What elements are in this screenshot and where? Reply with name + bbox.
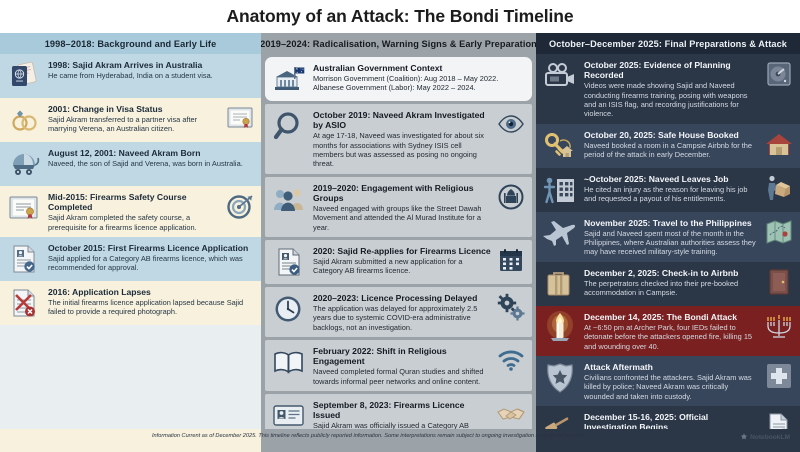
- timeline-item-text: October 20, 2025: Safe House Booked Nave…: [584, 129, 759, 160]
- open-book-icon: [270, 345, 308, 379]
- timeline-item-body: Sajid Akram transferred to a partner vis…: [48, 115, 220, 134]
- column-final-preparations-attack: October–December 2025: Final Preparation…: [536, 33, 800, 429]
- timeline-item-title: October 2019: Naveed Akram Investigated …: [313, 110, 491, 130]
- timeline-item[interactable]: August 12, 2001: Naveed Akram Born Navee…: [0, 142, 261, 186]
- timeline-item-title: February 2022: Shift in Religious Engage…: [313, 346, 491, 366]
- brand-label: NotebookLM: [750, 434, 790, 441]
- title-bar: Anatomy of an Attack: The Bondi Timeline: [0, 0, 800, 33]
- timeline-item[interactable]: February 2022: Shift in Religious Engage…: [265, 340, 532, 391]
- timeline-item[interactable]: November 2025: Travel to the Philippines…: [536, 212, 800, 262]
- timeline-item-title: 2019–2020: Engagement with Religious Gro…: [313, 183, 491, 203]
- baby-pram-icon: [5, 147, 43, 181]
- timeline-item[interactable]: 2001: Change in Visa Status Sajid Akram …: [0, 98, 261, 142]
- timeline-item-title: October 2025: Evidence of Planning Recor…: [584, 60, 759, 80]
- timeline-item-title: December 15-16, 2025: Official Investiga…: [584, 412, 759, 429]
- box-carry-icon: [764, 173, 794, 203]
- timeline-item-title: 2020: Sajid Re-applies for Firearms Lice…: [313, 246, 491, 256]
- timeline-item[interactable]: September 8, 2023: Firearms Licence Issu…: [265, 394, 532, 429]
- target-icon: [225, 191, 255, 221]
- legal-document-icon: [764, 411, 794, 429]
- timeline-item-body: Sajid and Naveed spent most of the month…: [584, 229, 759, 257]
- timeline-item-body: Naveed booked a room in a Campsie Airbnb…: [584, 141, 759, 160]
- door-icon: [764, 267, 794, 297]
- timeline-item-text: Australian Government Context Morrison G…: [313, 62, 526, 93]
- group-people-icon: [270, 182, 308, 216]
- timeline-item[interactable]: 2016: Application Lapses The initial fir…: [0, 281, 261, 325]
- timeline-item-text: 2019–2020: Engagement with Religious Gro…: [313, 182, 491, 232]
- id-document-check-icon: [270, 245, 308, 279]
- certificate-icon: [5, 191, 43, 225]
- menorah-icon: [764, 311, 794, 341]
- calendar-icon: [496, 245, 526, 275]
- timeline-item-title: 2001: Change in Visa Status: [48, 104, 220, 114]
- timeline-item[interactable]: Mid-2015: Firearms Safety Course Complet…: [0, 186, 261, 237]
- footer-background-left: [0, 429, 261, 452]
- footer-background-right: [536, 429, 800, 452]
- government-context-card[interactable]: Australian Government Context Morrison G…: [265, 57, 532, 101]
- column-1-items: 1998: Sajid Akram Arrives in Australia H…: [0, 54, 261, 325]
- clock-icon: [270, 292, 308, 326]
- timeline-item-body: The application was delayed for approxim…: [313, 304, 491, 332]
- document-rejected-icon: [5, 286, 43, 320]
- id-card-icon: [270, 399, 308, 429]
- timeline-item-text: 2020: Sajid Re-applies for Firearms Lice…: [313, 245, 491, 276]
- timeline-item-text: October 2019: Naveed Akram Investigated …: [313, 109, 491, 169]
- footnote-text: Information Current as of December 2025.…: [152, 433, 672, 440]
- timeline-item-title: 2016: Application Lapses: [48, 287, 255, 297]
- house-icon: [764, 129, 794, 159]
- timeline-item-title: November 2025: Travel to the Philippines: [584, 218, 759, 228]
- mosque-icon: [496, 182, 526, 212]
- timeline-item-body: He cited an injury as the reason for lea…: [584, 185, 759, 204]
- timeline-item-title: ~October 2025: Naveed Leaves Job: [584, 174, 759, 184]
- suitcase-icon: [541, 267, 579, 301]
- timeline-item-title: December 14, 2025: The Bondi Attack: [584, 312, 759, 322]
- timeline-item-body: Sajid Akram completed the safety course,…: [48, 213, 220, 232]
- column-3-header: October–December 2025: Final Preparation…: [536, 33, 800, 54]
- timeline-item-text: October 2025: Evidence of Planning Recor…: [584, 59, 759, 119]
- timeline-item-text: ~October 2025: Naveed Leaves Job He cite…: [584, 173, 759, 204]
- timeline-item[interactable]: October 2019: Naveed Akram Investigated …: [265, 104, 532, 174]
- column-radicalisation: 2019–2024: Radicalisation, Warning Signs…: [261, 33, 536, 429]
- timeline-item-body: Videos were made showing Sajid and Navee…: [584, 81, 759, 118]
- infographic-root: Anatomy of an Attack: The Bondi Timeline…: [0, 0, 800, 452]
- gears-icon: [496, 292, 526, 322]
- timeline-item-text: September 8, 2023: Firearms Licence Issu…: [313, 399, 491, 429]
- timeline-item-title: Attack Aftermath: [584, 362, 759, 372]
- timeline-item-title: Mid-2015: Firearms Safety Course Complet…: [48, 192, 220, 212]
- gavel-icon: [541, 411, 579, 429]
- timeline-item-title: October 2015: First Firearms Licence App…: [48, 243, 255, 253]
- medical-cross-icon: [764, 361, 794, 391]
- eye-icon: [496, 109, 526, 139]
- timeline-item-body: The perpetrators checked into their pre-…: [584, 279, 759, 298]
- timeline-item-title: Australian Government Context: [313, 63, 526, 73]
- timeline-item[interactable]: ~October 2025: Naveed Leaves Job He cite…: [536, 168, 800, 212]
- timeline-item-body: Naveed engaged with groups like the Stre…: [313, 204, 491, 232]
- timeline-item-text: August 12, 2001: Naveed Akram Born Navee…: [48, 147, 255, 168]
- timeline-item-text: Mid-2015: Firearms Safety Course Complet…: [48, 191, 220, 232]
- wedding-rings-icon: [5, 103, 43, 137]
- timeline-item[interactable]: October 20, 2025: Safe House Booked Nave…: [536, 124, 800, 168]
- timeline-item-text: November 2025: Travel to the Philippines…: [584, 217, 759, 257]
- timeline-item[interactable]: 2020: Sajid Re-applies for Firearms Lice…: [265, 240, 532, 284]
- timeline-item[interactable]: December 15-16, 2025: Official Investiga…: [536, 406, 800, 429]
- timeline-item-body: Naveed, the son of Sajid and Verena, was…: [48, 159, 255, 168]
- worker-building-icon: [541, 173, 579, 207]
- timeline-item-body: Sajid Akram was officially issued a Cate…: [313, 421, 491, 429]
- timeline-item-title: September 8, 2023: Firearms Licence Issu…: [313, 400, 491, 420]
- map-icon: [764, 217, 794, 247]
- parliament-flag-icon: [270, 62, 308, 96]
- timeline-item[interactable]: October 2025: Evidence of Planning Recor…: [536, 54, 800, 124]
- timeline-item-title: August 12, 2001: Naveed Akram Born: [48, 148, 255, 158]
- timeline-item[interactable]: Attack Aftermath Civilians confronted th…: [536, 356, 800, 406]
- timeline-item-body: The initial firearms licence application…: [48, 298, 255, 317]
- timeline-item-title: October 20, 2025: Safe House Booked: [584, 130, 759, 140]
- id-document-check-icon: [5, 242, 43, 276]
- footer: Information Current as of December 2025.…: [0, 429, 800, 452]
- column-2-header: 2019–2024: Radicalisation, Warning Signs…: [261, 33, 536, 54]
- timeline-item[interactable]: December 2, 2025: Check-in to Airbnb The…: [536, 262, 800, 306]
- column-1-header: 1998–2018: Background and Early Life: [0, 33, 261, 54]
- timeline-item-title: December 2, 2025: Check-in to Airbnb: [584, 268, 759, 278]
- column-3-items: October 2025: Evidence of Planning Recor…: [536, 54, 800, 429]
- column-2-items: Australian Government Context Morrison G…: [261, 54, 536, 429]
- page-title: Anatomy of an Attack: The Bondi Timeline: [226, 6, 573, 27]
- timeline-item-body: At age 17-18, Naveed was investigated fo…: [313, 131, 491, 168]
- timeline-item[interactable]: October 2015: First Firearms Licence App…: [0, 237, 261, 281]
- timeline-item-text: February 2022: Shift in Religious Engage…: [313, 345, 491, 386]
- timeline-columns: 1998–2018: Background and Early Life: [0, 33, 800, 429]
- timeline-item-body: He came from Hyderabad, India on a stude…: [48, 71, 255, 80]
- column-background-early-life: 1998–2018: Background and Early Life: [0, 33, 261, 429]
- timeline-item-text: December 15-16, 2025: Official Investiga…: [584, 411, 759, 429]
- timeline-item-body: Naveed completed formal Quran studies an…: [313, 367, 491, 386]
- timeline-item[interactable]: 2019–2020: Engagement with Religious Gro…: [265, 177, 532, 237]
- timeline-item-body: Sajid applied for a Category AB firearms…: [48, 254, 255, 273]
- key-house-icon: [541, 129, 579, 163]
- video-camera-icon: [541, 59, 579, 93]
- passport-icon: [5, 59, 43, 93]
- timeline-item-body: At ~6:50 pm at Archer Park, four IEDs fa…: [584, 323, 759, 351]
- timeline-item-body: Sajid Akram submitted a new application …: [313, 257, 491, 276]
- timeline-item[interactable]: 2020–2023: Licence Processing Delayed Th…: [265, 287, 532, 337]
- timeline-item-text: 2020–2023: Licence Processing Delayed Th…: [313, 292, 491, 332]
- footer-background-middle: [261, 429, 536, 452]
- timeline-item-text: December 14, 2025: The Bondi Attack At ~…: [584, 311, 759, 351]
- notebooklm-logo-icon: [740, 433, 748, 441]
- brand-notebooklm: NotebookLM: [740, 433, 790, 441]
- airplane-icon: [541, 217, 579, 251]
- hard-drive-icon: [764, 59, 794, 89]
- timeline-item-title: 1998: Sajid Akram Arrives in Australia: [48, 60, 255, 70]
- timeline-item-body: Civilians confronted the attackers. Saji…: [584, 373, 759, 401]
- police-badge-icon: [541, 361, 579, 395]
- timeline-item-text: 2016: Application Lapses The initial fir…: [48, 286, 255, 317]
- magnifier-icon: [270, 109, 308, 143]
- attack-event-item[interactable]: December 14, 2025: The Bondi Attack At ~…: [536, 306, 800, 356]
- handshake-icon: [496, 399, 526, 429]
- timeline-item-title: 2020–2023: Licence Processing Delayed: [313, 293, 491, 303]
- candle-icon: [541, 311, 579, 345]
- timeline-item-text: 1998: Sajid Akram Arrives in Australia H…: [48, 59, 255, 80]
- timeline-item[interactable]: 1998: Sajid Akram Arrives in Australia H…: [0, 54, 261, 98]
- timeline-item-text: 2001: Change in Visa Status Sajid Akram …: [48, 103, 220, 134]
- timeline-item-text: December 2, 2025: Check-in to Airbnb The…: [584, 267, 759, 298]
- wifi-icon: [496, 345, 526, 375]
- timeline-item-text: October 2015: First Firearms Licence App…: [48, 242, 255, 273]
- timeline-item-text: Attack Aftermath Civilians confronted th…: [584, 361, 759, 401]
- certificate-icon: [225, 103, 255, 133]
- timeline-item-body: Morrison Government (Coalition): Aug 201…: [313, 74, 526, 93]
